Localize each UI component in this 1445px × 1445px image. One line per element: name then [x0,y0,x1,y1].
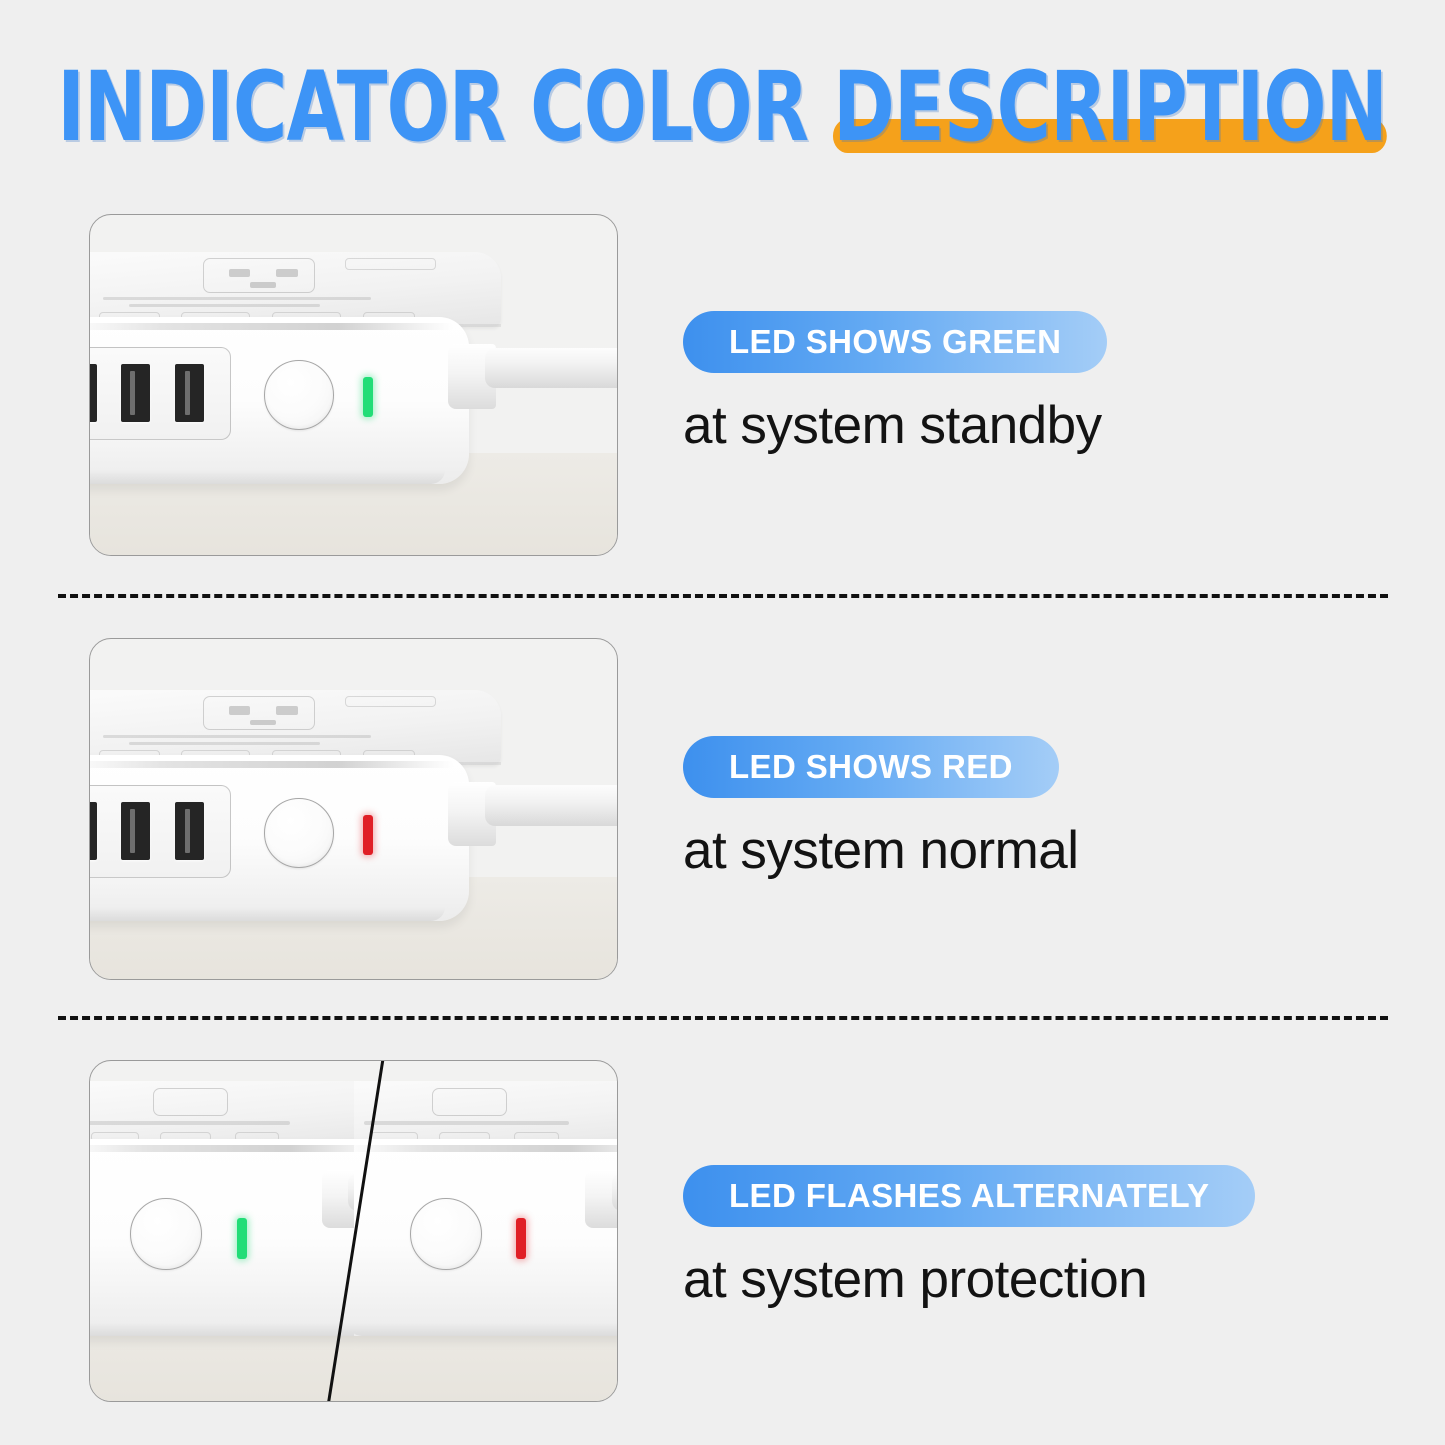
deck-label-line-2 [129,742,319,745]
led-indicator-green [237,1218,247,1259]
face-highlight [89,323,453,330]
led-indicator-red [363,815,374,855]
face-bottom-shadow [89,470,445,484]
usb-port-recess [89,785,231,878]
usb-port-3 [175,802,204,860]
usb-port-recess [89,347,231,440]
power-strip-illustration [90,639,617,979]
usb-port-2 [121,802,150,860]
usb-port-2 [121,364,150,422]
led-indicator-red [516,1218,526,1259]
certification-mark [345,258,436,269]
title-highlight-group: DESCRIPTION [834,59,1388,155]
outlet-socket [203,696,315,730]
description-alternating: LED FLASHES ALTERNATELY at system protec… [683,1165,1255,1310]
section-divider-1 [58,594,1388,598]
badge-led-green: LED SHOWS GREEN [683,311,1107,373]
strip-top-deck [89,690,501,765]
certification-mark [345,696,436,707]
caption-led-green: at system standby [683,395,1107,456]
deck-label-line-1 [90,1121,290,1124]
page-title-text: INDICATOR COLOR DESCRIPTION [58,59,1388,155]
socket-prong-left [229,269,251,277]
badge-led-red: LED SHOWS RED [683,736,1059,798]
split-view-right-red [354,1061,618,1401]
power-cable [485,785,618,826]
face-highlight [354,1145,618,1152]
strip-top-deck [354,1081,618,1146]
product-photo-green [89,214,618,556]
title-part-highlighted: DESCRIPTION [834,51,1388,163]
power-button[interactable] [130,1198,202,1270]
split-view-left-green [90,1061,354,1401]
power-cable [612,1173,617,1210]
deck-label-line-2 [129,304,319,307]
strip-front-face [354,1139,618,1336]
product-photo-red [89,638,618,980]
outlet-socket [203,258,315,292]
caption-led-alternating: at system protection [683,1249,1255,1310]
face-bottom-shadow [354,1322,618,1336]
deck-label-line-1 [103,735,371,738]
outlet-socket [432,1088,507,1116]
title-part-plain: INDICATOR COLOR [58,51,834,163]
socket-prong-right [276,706,298,714]
description-red: LED SHOWS RED at system normal [683,736,1079,881]
face-highlight [90,1145,354,1152]
deck-label-line-1 [364,1121,570,1124]
deck-label-line-1 [103,297,371,300]
socket-prong-right [276,269,298,277]
strip-front-face [89,755,469,922]
power-button[interactable] [264,360,334,430]
power-cable [485,348,618,389]
socket-prong-left [229,706,251,714]
face-bottom-shadow [89,907,445,921]
description-green: LED SHOWS GREEN at system standby [683,311,1107,456]
strip-top-deck [90,1081,354,1146]
power-button[interactable] [264,798,334,868]
power-button[interactable] [410,1198,482,1270]
usb-port-3 [175,364,204,422]
badge-led-alternating: LED FLASHES ALTERNATELY [683,1165,1255,1227]
page-title: INDICATOR COLOR DESCRIPTION [0,52,1445,162]
face-highlight [89,761,453,768]
face-bottom-shadow [90,1322,354,1336]
led-indicator-green [363,377,374,417]
usb-port-1 [89,802,97,860]
section-divider-2 [58,1016,1388,1020]
socket-prong-ground [250,282,276,287]
outlet-socket [153,1088,228,1116]
strip-front-face [90,1139,354,1336]
usb-port-1 [89,364,97,422]
strip-front-face [89,317,469,484]
power-strip-illustration [90,215,617,555]
strip-top-deck [89,252,501,327]
product-photo-alternating [89,1060,618,1402]
caption-led-red: at system normal [683,820,1079,881]
socket-prong-ground [250,720,276,725]
